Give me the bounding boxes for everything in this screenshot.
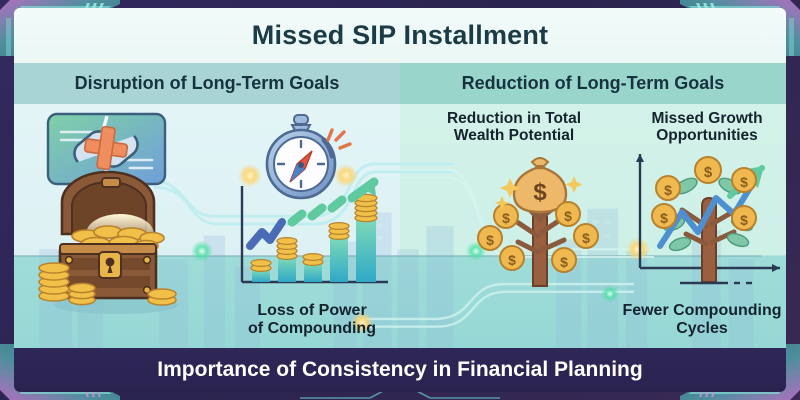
subtitle-left: Disruption of Long-Term Goals bbox=[75, 73, 340, 94]
label-missed-growth: Missed Growth Opportunities bbox=[622, 110, 786, 145]
body-area: Loss of Power of Compounding $ bbox=[14, 104, 786, 348]
infographic-root: Missed SIP Installment Disruption of Lon… bbox=[0, 0, 800, 400]
money-tree-icon: $ $ $ $ $ $ $ bbox=[476, 128, 604, 288]
subtitle-band: Disruption of Long-Term Goals Reduction … bbox=[14, 63, 786, 104]
content-card: Missed SIP Installment Disruption of Lon… bbox=[14, 8, 786, 392]
svg-text:$: $ bbox=[664, 182, 672, 198]
subtitle-right: Reduction of Long-Term Goals bbox=[462, 73, 725, 94]
label-loss-of-compounding: Loss of Power of Compounding bbox=[226, 302, 398, 338]
svg-text:$: $ bbox=[560, 254, 568, 270]
treasure-chest-icon bbox=[28, 172, 198, 320]
subtitle-right-cell: Reduction of Long-Term Goals bbox=[400, 63, 786, 104]
svg-text:$: $ bbox=[704, 164, 713, 181]
svg-text:$: $ bbox=[508, 252, 516, 268]
title-band: Missed SIP Installment bbox=[14, 8, 786, 63]
svg-text:$: $ bbox=[486, 232, 494, 248]
svg-text:$: $ bbox=[582, 230, 590, 246]
growth-bar-chart-icon bbox=[228, 182, 394, 300]
svg-text:$: $ bbox=[740, 174, 748, 190]
svg-text:$: $ bbox=[564, 208, 572, 224]
svg-text:$: $ bbox=[740, 212, 748, 228]
label-fewer-compounding-cycles: Fewer Compounding Cycles bbox=[612, 302, 786, 338]
svg-text:$: $ bbox=[660, 210, 668, 226]
subtitle-left-cell: Disruption of Long-Term Goals bbox=[14, 63, 400, 104]
svg-text:$: $ bbox=[502, 210, 510, 226]
footer-caption: Importance of Consistency in Financial P… bbox=[157, 358, 642, 382]
growth-tree-chart-icon: $ $ $ $ $ bbox=[630, 140, 786, 292]
page-title: Missed SIP Installment bbox=[252, 20, 549, 51]
label-reduction-wealth: Reduction in Total Wealth Potential bbox=[424, 110, 604, 145]
svg-text:$: $ bbox=[533, 179, 547, 206]
footer-band: Importance of Consistency in Financial P… bbox=[14, 348, 786, 392]
